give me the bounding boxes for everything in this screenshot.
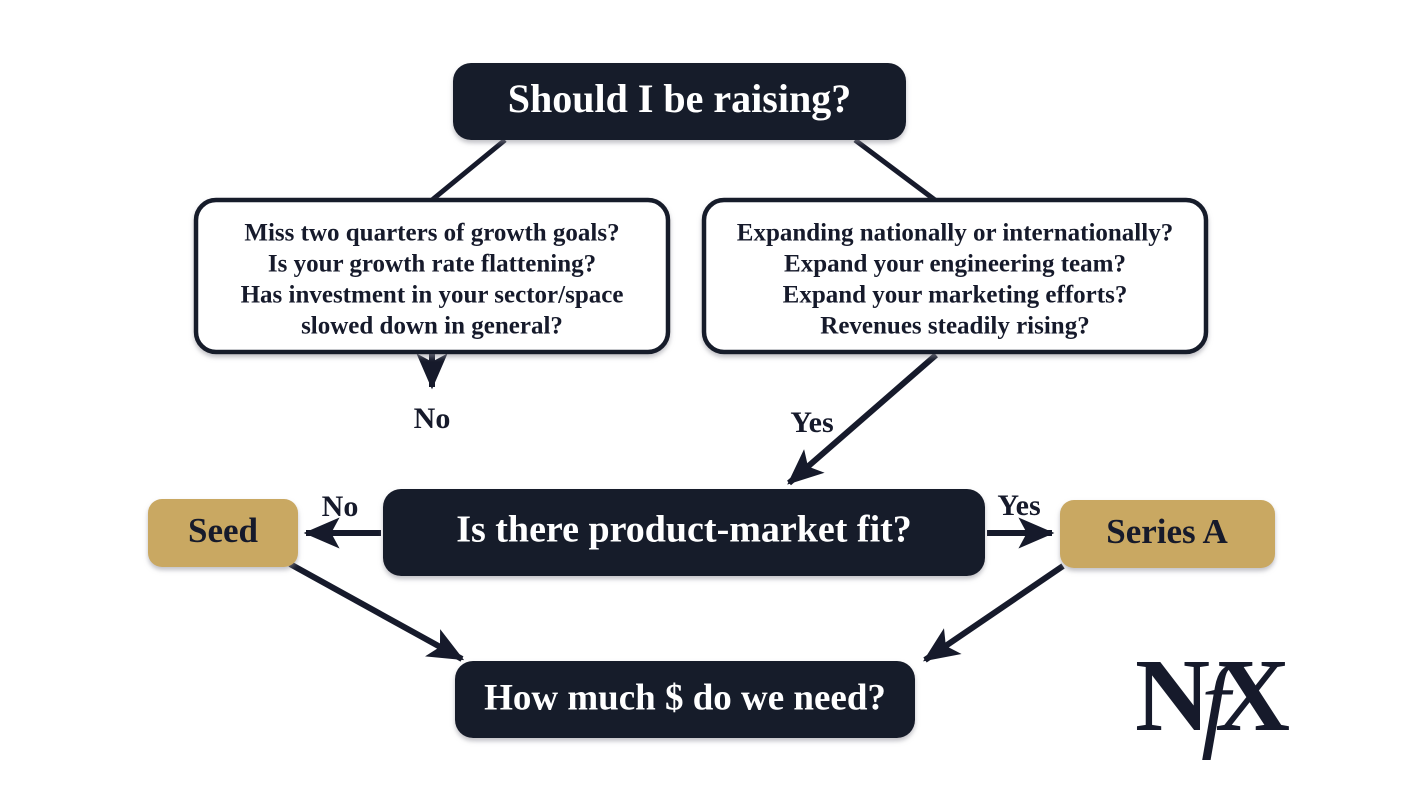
edge-label-pmf-no: No [322, 490, 359, 523]
node-seed[interactable]: Seed [148, 499, 298, 567]
right-question-line-1: Expanding nationally or internationally? [737, 220, 1173, 247]
edge-label-left-no: No [414, 402, 451, 435]
left-question-line-3: Has investment in your sector/space [241, 282, 624, 309]
left-question-line-4: slowed down in general? [301, 313, 563, 340]
node-series-a[interactable]: Series A [1060, 500, 1275, 568]
left-question-line-2: Is your growth rate flattening? [268, 251, 596, 278]
nfx-logo: N f X [1135, 638, 1290, 761]
right-question-line-4: Revenues steadily rising? [820, 313, 1089, 340]
node-how-much[interactable]: How much $ do we need? [455, 661, 915, 738]
node-should-i-be-raising[interactable]: Should I be raising? [453, 63, 906, 140]
node-pmf-label: Is there product-market fit? [456, 509, 912, 551]
edge-label-right-yes: Yes [790, 406, 833, 439]
left-question-line-1: Miss two quarters of growth goals? [244, 220, 619, 247]
node-seed-label: Seed [188, 511, 259, 550]
right-question-line-3: Expand your marketing efforts? [783, 282, 1128, 309]
nfx-logo-letter-x: X [1215, 638, 1290, 753]
node-root-label: Should I be raising? [508, 76, 851, 121]
flowchart-svg: Should I be raising? Miss two quarters o… [0, 0, 1422, 800]
edge-root-to-right-question [855, 140, 935, 200]
node-product-market-fit[interactable]: Is there product-market fit? [383, 489, 985, 576]
node-series-a-label: Series A [1106, 512, 1228, 551]
edge-seed-to-how-much [290, 564, 462, 659]
nfx-logo-letter-n: N [1135, 638, 1210, 753]
right-question-line-2: Expand your engineering team? [784, 251, 1126, 278]
node-right-question[interactable]: Expanding nationally or internationally?… [704, 200, 1206, 352]
node-how-much-label: How much $ do we need? [484, 677, 886, 718]
flowchart-canvas: Should I be raising? Miss two quarters o… [0, 0, 1422, 800]
edge-label-pmf-yes: Yes [997, 489, 1040, 522]
edge-root-to-left-question [432, 140, 505, 200]
node-left-question[interactable]: Miss two quarters of growth goals? Is yo… [196, 200, 668, 352]
edge-series-a-to-how-much [925, 566, 1063, 660]
